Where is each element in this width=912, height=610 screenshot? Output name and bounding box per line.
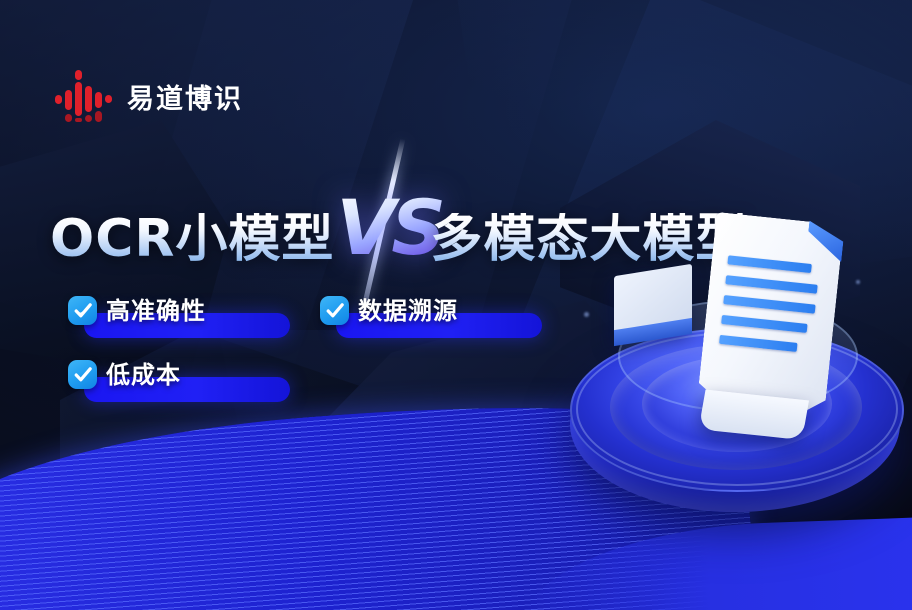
feature-label: 高准确性 [106, 299, 206, 323]
sparkle-icon [584, 312, 589, 317]
feature-label: 数据溯源 [358, 299, 458, 323]
headline-left: OCR小模型 [50, 213, 334, 265]
feature-label: 低成本 [106, 363, 181, 387]
brand-name: 易道博识 [127, 77, 243, 116]
hero-illustration [556, 216, 912, 546]
feature-item-accuracy[interactable]: 高准确性 [68, 296, 206, 325]
vs-badge: VS [336, 184, 428, 294]
check-badge-icon [320, 296, 349, 325]
banner-canvas: REPORT 易道博识 OCR小模型 VS 多模态大模型 [0, 0, 912, 610]
check-badge-icon [68, 360, 97, 389]
document-icon [696, 212, 844, 424]
sparkle-icon [856, 280, 860, 284]
check-badge-icon [68, 296, 97, 325]
brand-logo[interactable]: 易道博识 [55, 70, 243, 122]
feature-item-traceability[interactable]: 数据溯源 [320, 296, 458, 325]
audio-bars-logo-icon [55, 70, 113, 122]
vs-label: VS [336, 190, 442, 266]
feature-item-low-cost[interactable]: 低成本 [68, 360, 181, 389]
